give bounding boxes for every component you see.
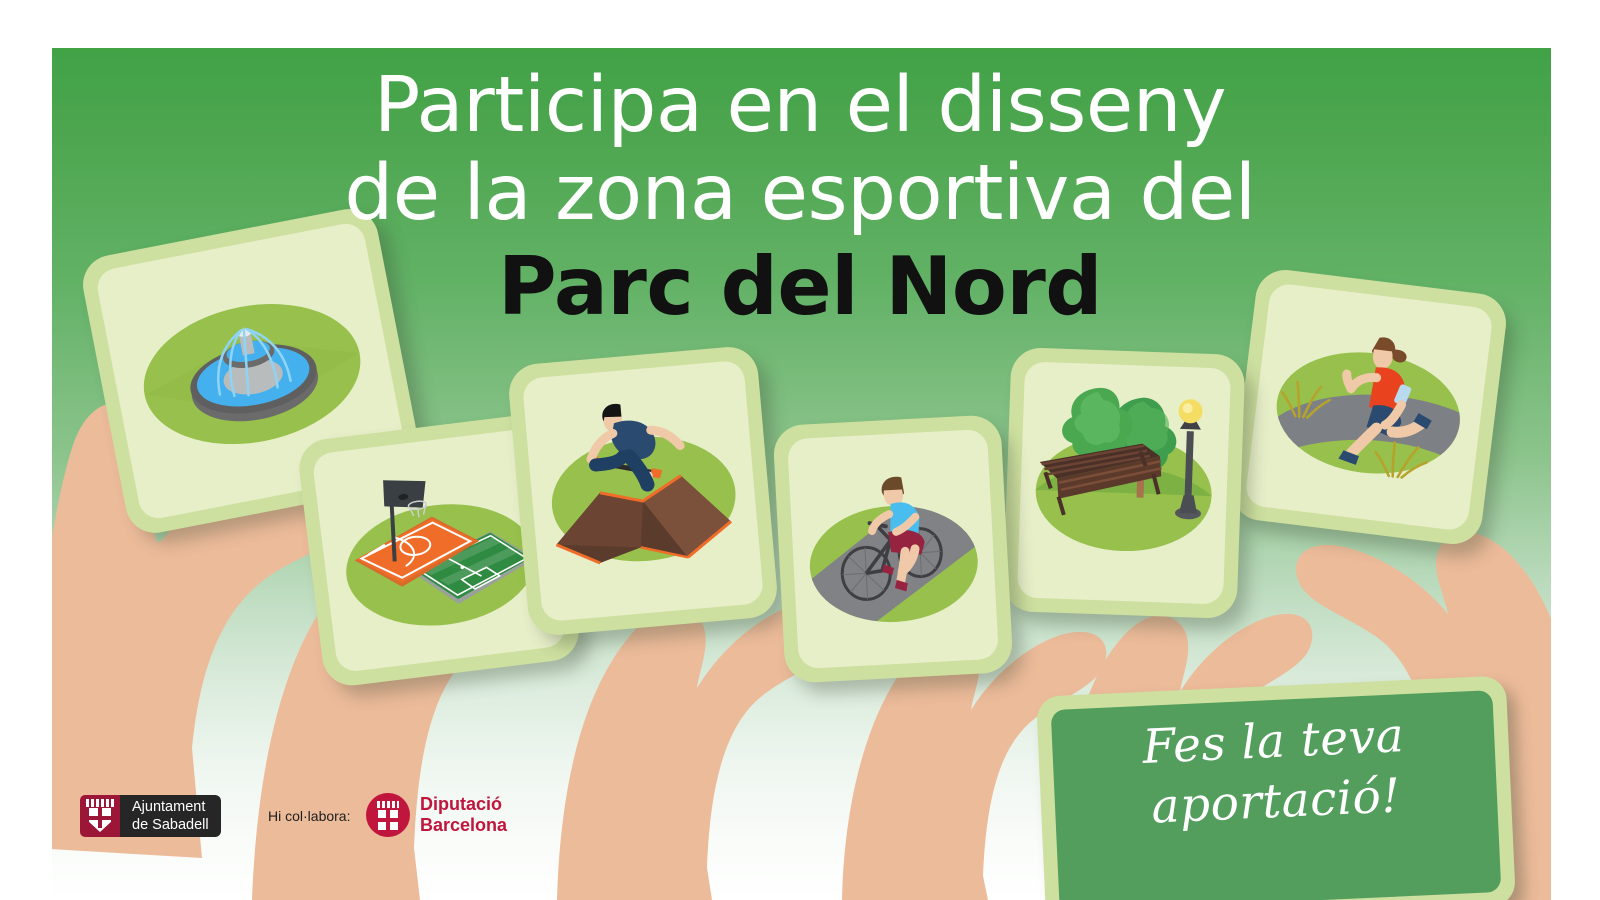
card-skatepark[interactable] — [507, 345, 780, 638]
park-bench-icon — [1017, 361, 1231, 604]
callout-card[interactable]: Fes la teva aportació! — [1036, 675, 1516, 900]
card-bikepath-face — [787, 429, 999, 669]
bicycle-icon — [787, 429, 999, 669]
card-running[interactable] — [1229, 267, 1510, 548]
card-skatepark-face — [522, 360, 764, 622]
callout-text: Fes la teva aportació! — [1037, 701, 1512, 842]
card-benchtrees[interactable] — [1002, 347, 1245, 619]
running-icon — [1244, 282, 1494, 532]
card-running-face — [1244, 282, 1494, 532]
poster-canvas: Participa en el disseny de la zona espor… — [0, 0, 1600, 900]
card-benchtrees-face — [1017, 361, 1231, 604]
skatepark-icon — [522, 360, 764, 622]
card-bikepath[interactable] — [772, 414, 1013, 684]
